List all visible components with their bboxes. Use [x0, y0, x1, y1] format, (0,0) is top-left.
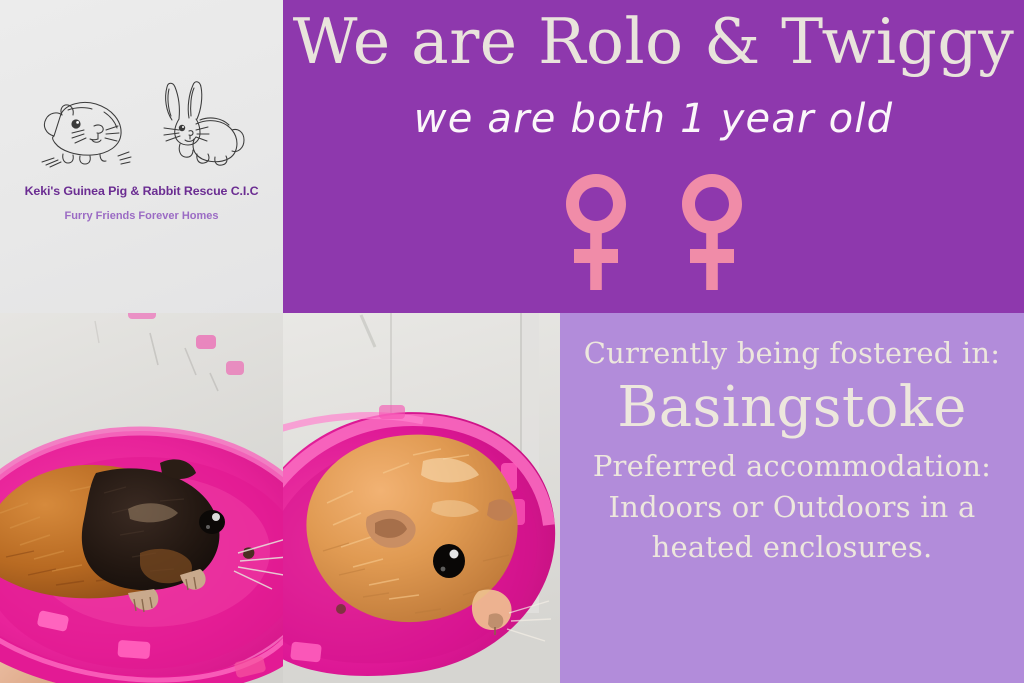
foster-location-label: Currently being fostered in:	[584, 337, 1000, 369]
photo-rolo-image	[0, 313, 283, 683]
logo-tagline: Furry Friends Forever Homes	[64, 210, 218, 222]
header-banner: We are Rolo & Twiggy we are both 1 year …	[283, 0, 1024, 313]
logo-organization-name: Keki's Guinea Pig & Rabbit Rescue C.I.C	[25, 184, 259, 198]
accommodation-line-1: Indoors or Outdoors in a	[609, 491, 976, 523]
female-symbol-icon	[559, 172, 633, 292]
info-panel: Currently being fostered in: Basingstoke…	[560, 313, 1024, 683]
photo-rolo	[0, 313, 283, 683]
logo-artwork	[27, 78, 257, 170]
poster-subtitle: we are both 1 year old	[283, 96, 1024, 142]
poster-title: We are Rolo & Twiggy	[283, 10, 1024, 74]
logo-panel: Keki's Guinea Pig & Rabbit Rescue C.I.C …	[0, 0, 283, 313]
female-symbol-icon	[675, 172, 749, 292]
adoption-poster: Keki's Guinea Pig & Rabbit Rescue C.I.C …	[0, 0, 1024, 683]
foster-location-city: Basingstoke	[617, 377, 967, 440]
photo-twiggy-image	[283, 313, 560, 683]
accommodation-line-2: heated enclosures.	[652, 531, 933, 563]
rabbit-icon	[152, 78, 252, 170]
gender-symbol-row	[283, 172, 1024, 292]
photo-twiggy	[283, 313, 560, 683]
accommodation-label: Preferred accommodation:	[593, 450, 991, 482]
guinea-pig-icon	[32, 90, 136, 170]
